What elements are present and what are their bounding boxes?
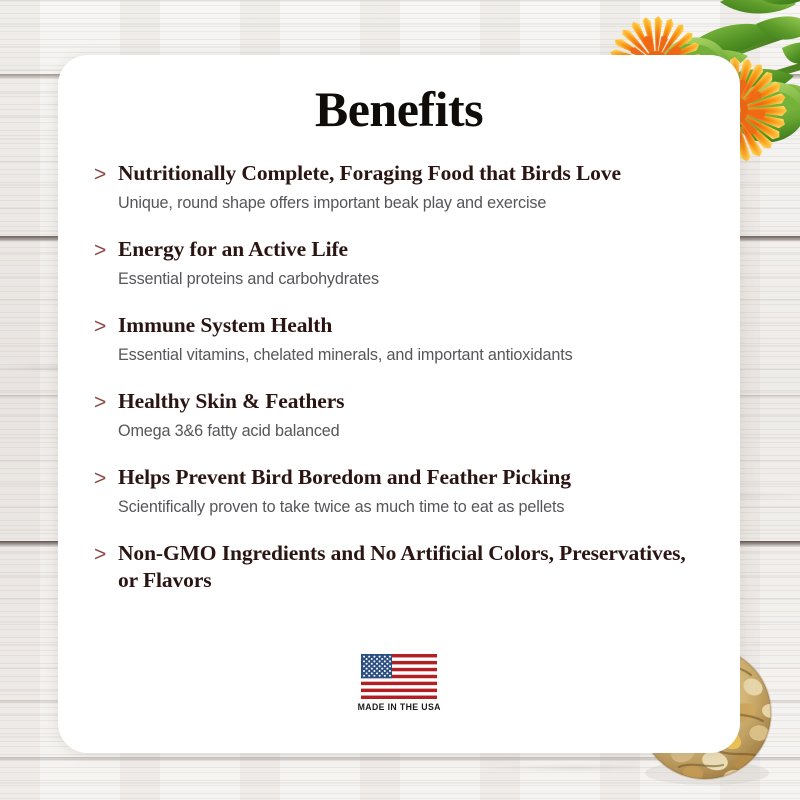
chevron-right-icon: >	[94, 236, 118, 264]
benefits-list: > Nutritionally Complete, Foraging Food …	[58, 160, 740, 594]
benefit-heading: Energy for an Active Life	[118, 236, 706, 263]
benefit-subtext: Scientifically proven to take twice as m…	[118, 496, 706, 519]
benefit-subtext: Unique, round shape offers important bea…	[118, 192, 706, 215]
list-item: > Nutritionally Complete, Foraging Food …	[94, 160, 706, 215]
benefit-subtext: Omega 3&6 fatty acid balanced	[118, 420, 706, 443]
list-item: > Immune System Health Essential vitamin…	[94, 312, 706, 367]
benefit-text-block: Energy for an Active Life Essential prot…	[118, 236, 706, 291]
benefit-text-block: Non-GMO Ingredients and No Artificial Co…	[118, 540, 706, 594]
list-item: > Healthy Skin & Feathers Omega 3&6 fatt…	[94, 388, 706, 443]
chevron-right-icon: >	[94, 388, 118, 416]
benefit-subtext: Essential vitamins, chelated minerals, a…	[118, 344, 706, 367]
benefit-text-block: Healthy Skin & Feathers Omega 3&6 fatty …	[118, 388, 706, 443]
benefit-heading: Helps Prevent Bird Boredom and Feather P…	[118, 464, 706, 491]
benefit-text-block: Nutritionally Complete, Foraging Food th…	[118, 160, 706, 215]
chevron-right-icon: >	[94, 540, 118, 568]
made-in-usa-caption: MADE IN THE USA	[357, 702, 440, 713]
benefit-text-block: Immune System Health Essential vitamins,…	[118, 312, 706, 367]
benefit-heading: Nutritionally Complete, Foraging Food th…	[118, 160, 706, 187]
chevron-right-icon: >	[94, 160, 118, 188]
benefits-card: Benefits > Nutritionally Complete, Forag…	[58, 55, 740, 753]
benefit-heading: Immune System Health	[118, 312, 706, 339]
chevron-right-icon: >	[94, 464, 118, 492]
chevron-right-icon: >	[94, 312, 118, 340]
list-item: > Non-GMO Ingredients and No Artificial …	[94, 540, 706, 594]
benefit-heading: Healthy Skin & Feathers	[118, 388, 706, 415]
benefit-text-block: Helps Prevent Bird Boredom and Feather P…	[118, 464, 706, 519]
list-item: > Energy for an Active Life Essential pr…	[94, 236, 706, 291]
benefit-heading: Non-GMO Ingredients and No Artificial Co…	[118, 540, 706, 594]
benefit-subtext: Essential proteins and carbohydrates	[118, 268, 706, 291]
made-in-usa-badge: MADE IN THE USA	[58, 654, 740, 713]
poster-canvas: Benefits > Nutritionally Complete, Forag…	[0, 0, 800, 800]
usa-flag-icon	[361, 654, 437, 699]
list-item: > Helps Prevent Bird Boredom and Feather…	[94, 464, 706, 519]
page-title: Benefits	[58, 80, 740, 138]
